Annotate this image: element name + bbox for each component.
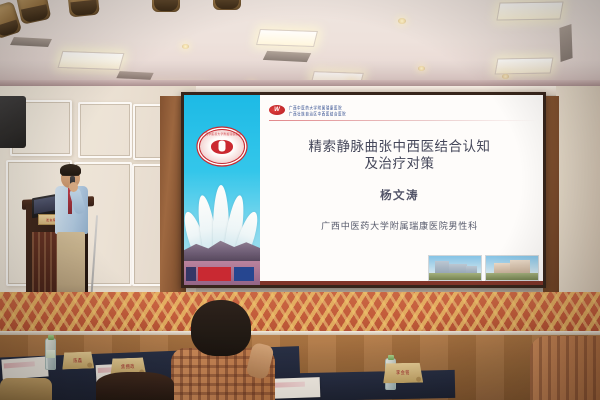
handout-paper <box>1 356 48 379</box>
conference-photo: 广西中医药大学附属瑞康医院 W 广西中医药大学附属瑞康医院 <box>0 0 600 400</box>
slide-header-line-2: 广西壮族自治区中西医结合医院 <box>289 110 346 117</box>
water-bottle-icon <box>45 338 56 370</box>
slide-affiliation: 广西中医药大学附属瑞康医院男性科 <box>260 219 539 232</box>
lotus-graphic <box>185 181 259 251</box>
panel-light-icon <box>256 29 318 47</box>
spotlight-icon <box>15 0 52 25</box>
name-card: 陈磊 <box>62 351 95 369</box>
slide-photo-row <box>428 255 539 281</box>
audience-head <box>191 300 251 356</box>
downlight-icon <box>182 44 189 49</box>
audience-member-right <box>530 336 600 400</box>
name-card-text: 焦拥政 <box>121 363 135 371</box>
slide-title-line-1: 精索静脉曲张中西医结合认知 <box>260 139 539 156</box>
vent-icon <box>10 37 52 47</box>
name-card-text: 李会铭 <box>396 369 410 377</box>
spotlight-icon <box>152 0 180 12</box>
slide-title-line-2: 及治疗对策 <box>260 156 539 173</box>
speaker-presenter <box>52 166 92 306</box>
name-card: 李会铭 <box>383 363 423 384</box>
downlight-icon <box>398 18 406 24</box>
slide-author: 杨文涛 <box>260 187 539 203</box>
slide-header-rule <box>269 120 537 121</box>
audience-member-front <box>96 372 174 400</box>
vent-icon <box>559 24 572 62</box>
slide-header: W 广西中医药大学附属瑞康医院 广西壮族自治区中西医结合医院 <box>269 102 537 118</box>
wall-molding <box>78 102 132 158</box>
chair-back <box>0 378 52 400</box>
hospital-building-photo-2 <box>485 255 539 281</box>
spotlight-icon <box>213 0 241 10</box>
ceiling <box>0 0 600 92</box>
emblem-ring-text: 广西中医药大学附属瑞康医院 <box>200 132 244 136</box>
slide-panel-footer <box>184 261 260 285</box>
hospital-building-photo-1 <box>428 255 482 281</box>
slide-content: W 广西中医药大学附属瑞康医院 广西壮族自治区中西医结合医院 精索静脉曲张中西医… <box>260 95 543 285</box>
slide-decorative-panel: 广西中医药大学附属瑞康医院 <box>184 95 260 285</box>
panel-light-icon <box>496 1 563 20</box>
hospital-logo-icon: W <box>269 105 285 115</box>
loudspeaker-icon <box>0 96 26 148</box>
projection-screen: 广西中医药大学附属瑞康医院 W 广西中医药大学附属瑞康医院 <box>184 95 543 285</box>
stage-carpet <box>0 292 600 334</box>
audience-member-center <box>165 300 285 400</box>
hospital-emblem-icon: 广西中医药大学附属瑞康医院 <box>199 129 245 164</box>
slide-title: 精索静脉曲张中西医结合认知 及治疗对策 <box>260 139 539 174</box>
right-wall <box>556 86 600 316</box>
name-card-text: 陈磊 <box>73 356 82 364</box>
spotlight-icon <box>66 0 100 17</box>
speaker-hand <box>69 182 78 192</box>
slide-footer-strip <box>260 281 543 285</box>
